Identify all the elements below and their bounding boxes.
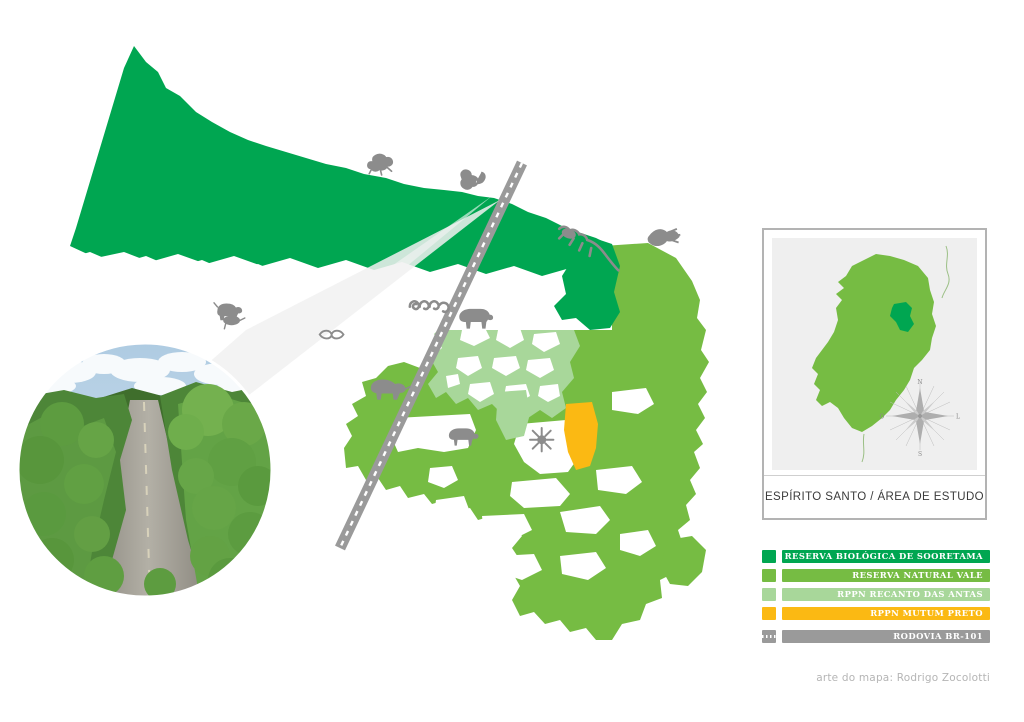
map-canvas: N S L O ESPÍRITO SANTO / ÁREA DE ESTUDO …: [0, 0, 1024, 722]
spider-icon: [530, 428, 553, 451]
legend-swatch-vale: [762, 569, 776, 582]
inset-caption: ESPÍRITO SANTO / ÁREA DE ESTUDO: [764, 475, 985, 518]
compass-east-label: L: [956, 414, 960, 421]
inset-panel-espirito-santo[interactable]: N S L O ESPÍRITO SANTO / ÁREA DE ESTUDO: [762, 228, 987, 520]
map-legend: RESERVA BIOLÓGICA DE SOORETAMA RESERVA N…: [762, 549, 990, 648]
legend-item-rodovia-br-101[interactable]: RODOVIA BR-101: [762, 629, 990, 644]
legend-label-rodovia-br-101: RODOVIA BR-101: [893, 632, 983, 640]
legend-label-sooretama: RESERVA BIOLÓGICA DE SOORETAMA: [785, 552, 983, 560]
legend-item-mutum-preto[interactable]: RPPN MUTUM PRETO: [762, 606, 990, 621]
legend-swatch-recanto-das-antas: [762, 588, 776, 601]
legend-label-recanto-das-antas: RPPN RECANTO DAS ANTAS: [837, 590, 983, 598]
map-credit: arte do mapa: Rodrigo Zocolotti: [816, 672, 990, 684]
boundary-line-north: [942, 246, 949, 298]
compass-north-label: N: [917, 379, 922, 386]
compass-south-label: S: [918, 451, 922, 458]
legend-label-mutum-preto: RPPN MUTUM PRETO: [870, 609, 983, 617]
bird-icon: [649, 229, 681, 245]
legend-bar-recanto-das-antas: RPPN RECANTO DAS ANTAS: [782, 588, 990, 601]
compass-west-label: O: [880, 414, 885, 421]
monkey-icon: [461, 170, 485, 189]
legend-swatch-mutum-preto: [762, 607, 776, 620]
legend-bar-sooretama: RESERVA BIOLÓGICA DE SOORETAMA: [782, 550, 990, 563]
legend-swatch-rodovia-br-101: [762, 630, 776, 643]
legend-label-vale: RESERVA NATURAL VALE: [852, 571, 983, 579]
boundary-line-south: [862, 434, 864, 462]
legend-item-recanto-das-antas[interactable]: RPPN RECANTO DAS ANTAS: [762, 587, 990, 602]
legend-item-sooretama[interactable]: RESERVA BIOLÓGICA DE SOORETAMA: [762, 549, 990, 564]
legend-swatch-sooretama: [762, 550, 776, 563]
inset-map-area[interactable]: N S L O: [772, 238, 977, 470]
legend-item-vale[interactable]: RESERVA NATURAL VALE: [762, 568, 990, 583]
frog-icon: [368, 154, 392, 175]
legend-bar-rodovia-br-101: RODOVIA BR-101: [782, 630, 990, 643]
legend-bar-mutum-preto: RPPN MUTUM PRETO: [782, 607, 990, 620]
legend-bar-vale: RESERVA NATURAL VALE: [782, 569, 990, 582]
espirito-santo-shape: N S L O: [772, 238, 977, 470]
